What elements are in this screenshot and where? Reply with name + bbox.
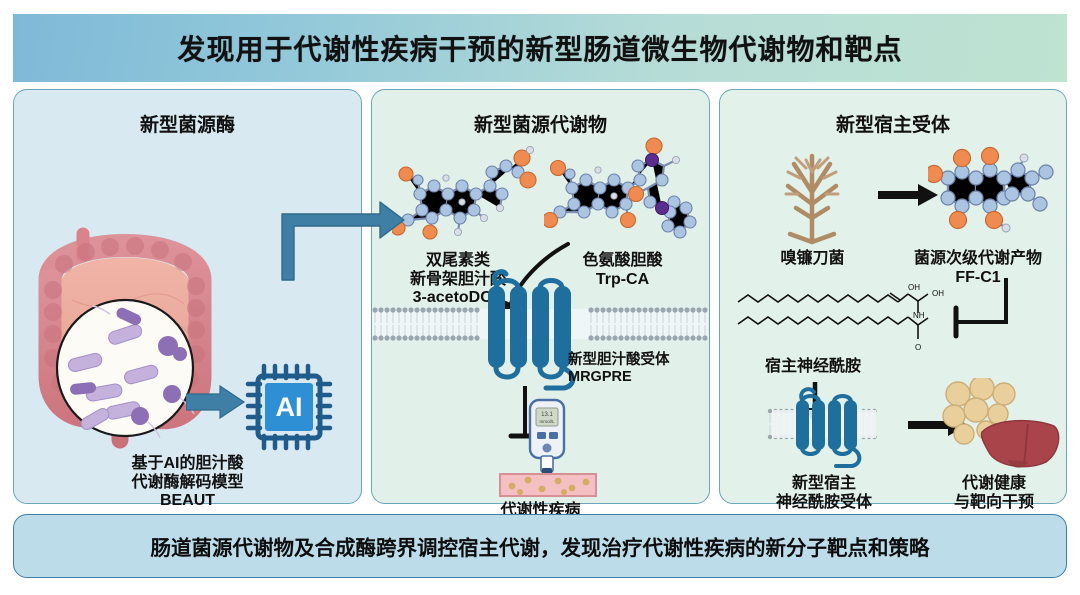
ceramide-receptor-membrane (764, 386, 884, 476)
molecule-3-acetodca (392, 138, 540, 248)
liver-and-adipose-icon (942, 378, 1064, 470)
label-oh-top: OH (908, 284, 920, 292)
ceramide-structure: OH OH NH O (734, 284, 954, 359)
caption-fungus: 嗅镰刀菌 (740, 250, 885, 269)
panel1-title: 新型菌源酶 (14, 110, 361, 137)
svg-text:mmol/L: mmol/L (539, 419, 555, 424)
summary-banner: 肠道菌源代谢物及合成酶跨界调控宿主代谢，发现治疗代谢性疾病的新分子靶点和策略 (13, 514, 1067, 578)
page-title: 发现用于代谢性疾病干预的新型肠道微生物代谢物和靶点 (177, 28, 902, 68)
label-o: O (915, 343, 921, 352)
panel3-title: 新型宿主受体 (720, 110, 1066, 137)
caption-outcome: 代谢健康 与靶向干预 (920, 475, 1068, 512)
panel-novel-bacterial-metabolite: 新型菌源代谢物 (371, 89, 710, 504)
glucometer-icon: 13.1 mmol/L (492, 394, 602, 499)
svg-text:13.1: 13.1 (541, 412, 553, 418)
molecule-trp-ca (544, 136, 699, 248)
figure-root: 发现用于代谢性疾病干预的新型肠道微生物代谢物和靶点 新型菌源酶 (0, 0, 1080, 595)
arrow-ai-to-metabolite (268, 194, 408, 284)
ai-chip-label: AI (276, 392, 303, 422)
label-oh-right: OH (932, 289, 944, 298)
arrow-gut-to-ai (186, 385, 246, 419)
ai-chip-icon: AI (244, 362, 334, 452)
figure-title-banner: 发现用于代谢性疾病干预的新型肠道微生物代谢物和靶点 (13, 14, 1067, 82)
caption-ceramide-receptor: 新型宿主 神经酰胺受体 (734, 475, 914, 512)
caption-host-ceramide: 宿主神经酰胺 (728, 358, 898, 377)
caption-ai-model: 基于AI的胆汁酸 代谢酶解码模型 BEAUT (14, 455, 361, 511)
summary-text: 肠道菌源代谢物及合成酶跨界调控宿主代谢，发现治疗代谢性疾病的新分子靶点和策略 (151, 531, 930, 561)
molecule-ff-c1 (928, 136, 1058, 246)
fungus-fusarium-icon (762, 138, 862, 248)
caption-receptor: 新型胆汁酸受体 MRGPRE (568, 352, 708, 386)
inhibition-ffc1-to-ceramide (944, 278, 1024, 344)
panel2-title: 新型菌源代谢物 (372, 110, 709, 137)
label-nh: NH (913, 311, 925, 320)
panel-novel-host-receptor: 新型宿主受体 嗅镰刀菌 (719, 89, 1067, 504)
panel-novel-bacterial-enzyme: 新型菌源酶 (13, 89, 362, 504)
